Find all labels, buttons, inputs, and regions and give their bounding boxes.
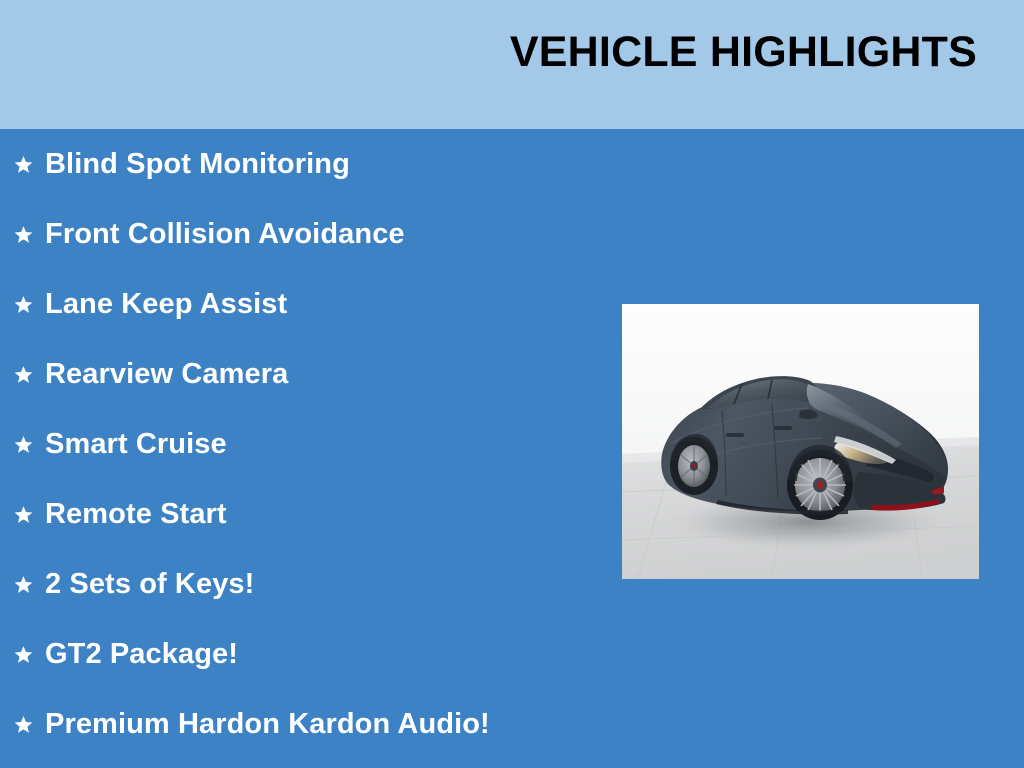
star-icon [14,365,33,384]
list-item-label: Front Collision Avoidance [45,220,405,249]
list-item-label: Blind Spot Monitoring [45,150,350,179]
list-item: Remote Start [0,479,600,549]
list-item-label: 2 Sets of Keys! [45,570,254,599]
list-item: Front Collision Avoidance [0,199,600,269]
star-icon [14,435,33,454]
slide-header: VEHICLE HIGHLIGHTS [0,0,1024,129]
list-item: Premium Hardon Kardon Audio! [0,689,600,759]
list-item-label: Lane Keep Assist [45,290,287,319]
page-title: VEHICLE HIGHLIGHTS [510,28,977,77]
list-item-label: Rearview Camera [45,360,288,389]
slide-body: Blind Spot Monitoring Front Collision Av… [0,129,1024,768]
star-icon [14,155,33,174]
list-item: Blind Spot Monitoring [0,129,600,199]
star-icon [14,505,33,524]
vehicle-highlights-slide: VEHICLE HIGHLIGHTS Blind Spot Monitoring [0,0,1024,768]
list-item-label: Remote Start [45,500,227,529]
star-icon [14,575,33,594]
list-item: Rearview Camera [0,339,600,409]
list-item-label: Premium Hardon Kardon Audio! [45,710,490,739]
list-item: Smart Cruise [0,409,600,479]
list-item: 2 Sets of Keys! [0,549,600,619]
list-item: GT2 Package! [0,619,600,689]
star-icon [14,645,33,664]
highlights-list: Blind Spot Monitoring Front Collision Av… [0,129,600,759]
star-icon [14,225,33,244]
list-item-label: Smart Cruise [45,430,227,459]
list-item-label: GT2 Package! [45,640,238,669]
vehicle-photo [622,304,979,579]
star-icon [14,715,33,734]
star-icon [14,295,33,314]
vehicle-photo-image [622,304,979,579]
list-item: Lane Keep Assist [0,269,600,339]
